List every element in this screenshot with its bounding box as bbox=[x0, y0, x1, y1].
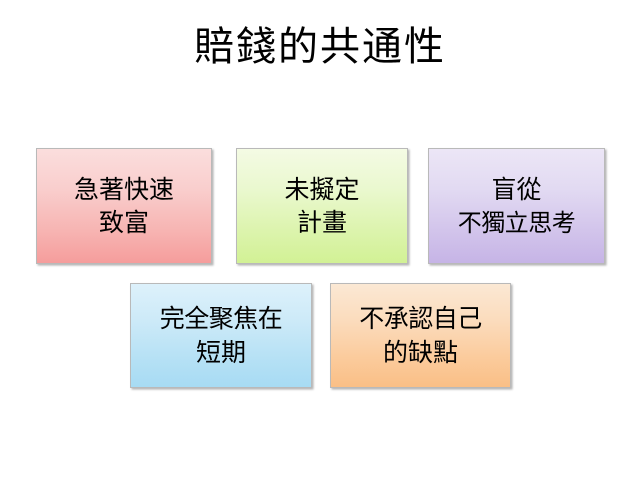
concept-box-line-1: 不承認自己 bbox=[359, 302, 482, 336]
bottom-row-group: 完全聚焦在 短期 不承認自己 的缺點 bbox=[130, 283, 511, 388]
concept-box-line-2: 短期 bbox=[196, 336, 246, 370]
concept-box-line-1: 未擬定 bbox=[284, 173, 359, 207]
concept-box-blind-following[interactable]: 盲從 不獨立思考 bbox=[428, 148, 605, 264]
concept-box-short-term-focus[interactable]: 完全聚焦在 短期 bbox=[130, 283, 312, 388]
slide-canvas: 賠錢的共通性 急著快速 致富 未擬定 計畫 盲從 不獨立思考 完全聚焦在 短期 … bbox=[0, 0, 640, 480]
concept-box-rush-to-get-rich[interactable]: 急著快速 致富 bbox=[36, 148, 212, 264]
concept-box-line-2: 不獨立思考 bbox=[458, 207, 576, 239]
page-title: 賠錢的共通性 bbox=[0, 24, 640, 70]
concept-box-line-2: 致富 bbox=[99, 206, 149, 240]
concept-box-line-1: 急著快速 bbox=[74, 173, 174, 207]
top-row-group: 急著快速 致富 未擬定 計畫 盲從 不獨立思考 bbox=[36, 148, 605, 264]
concept-box-line-1: 完全聚焦在 bbox=[160, 302, 283, 336]
concept-box-line-1: 盲從 bbox=[491, 173, 541, 207]
concept-box-no-plan[interactable]: 未擬定 計畫 bbox=[236, 148, 408, 264]
concept-box-line-2: 計畫 bbox=[297, 206, 347, 240]
concept-box-line-2: 的缺點 bbox=[383, 336, 458, 370]
concept-box-deny-own-flaws[interactable]: 不承認自己 的缺點 bbox=[330, 283, 511, 388]
